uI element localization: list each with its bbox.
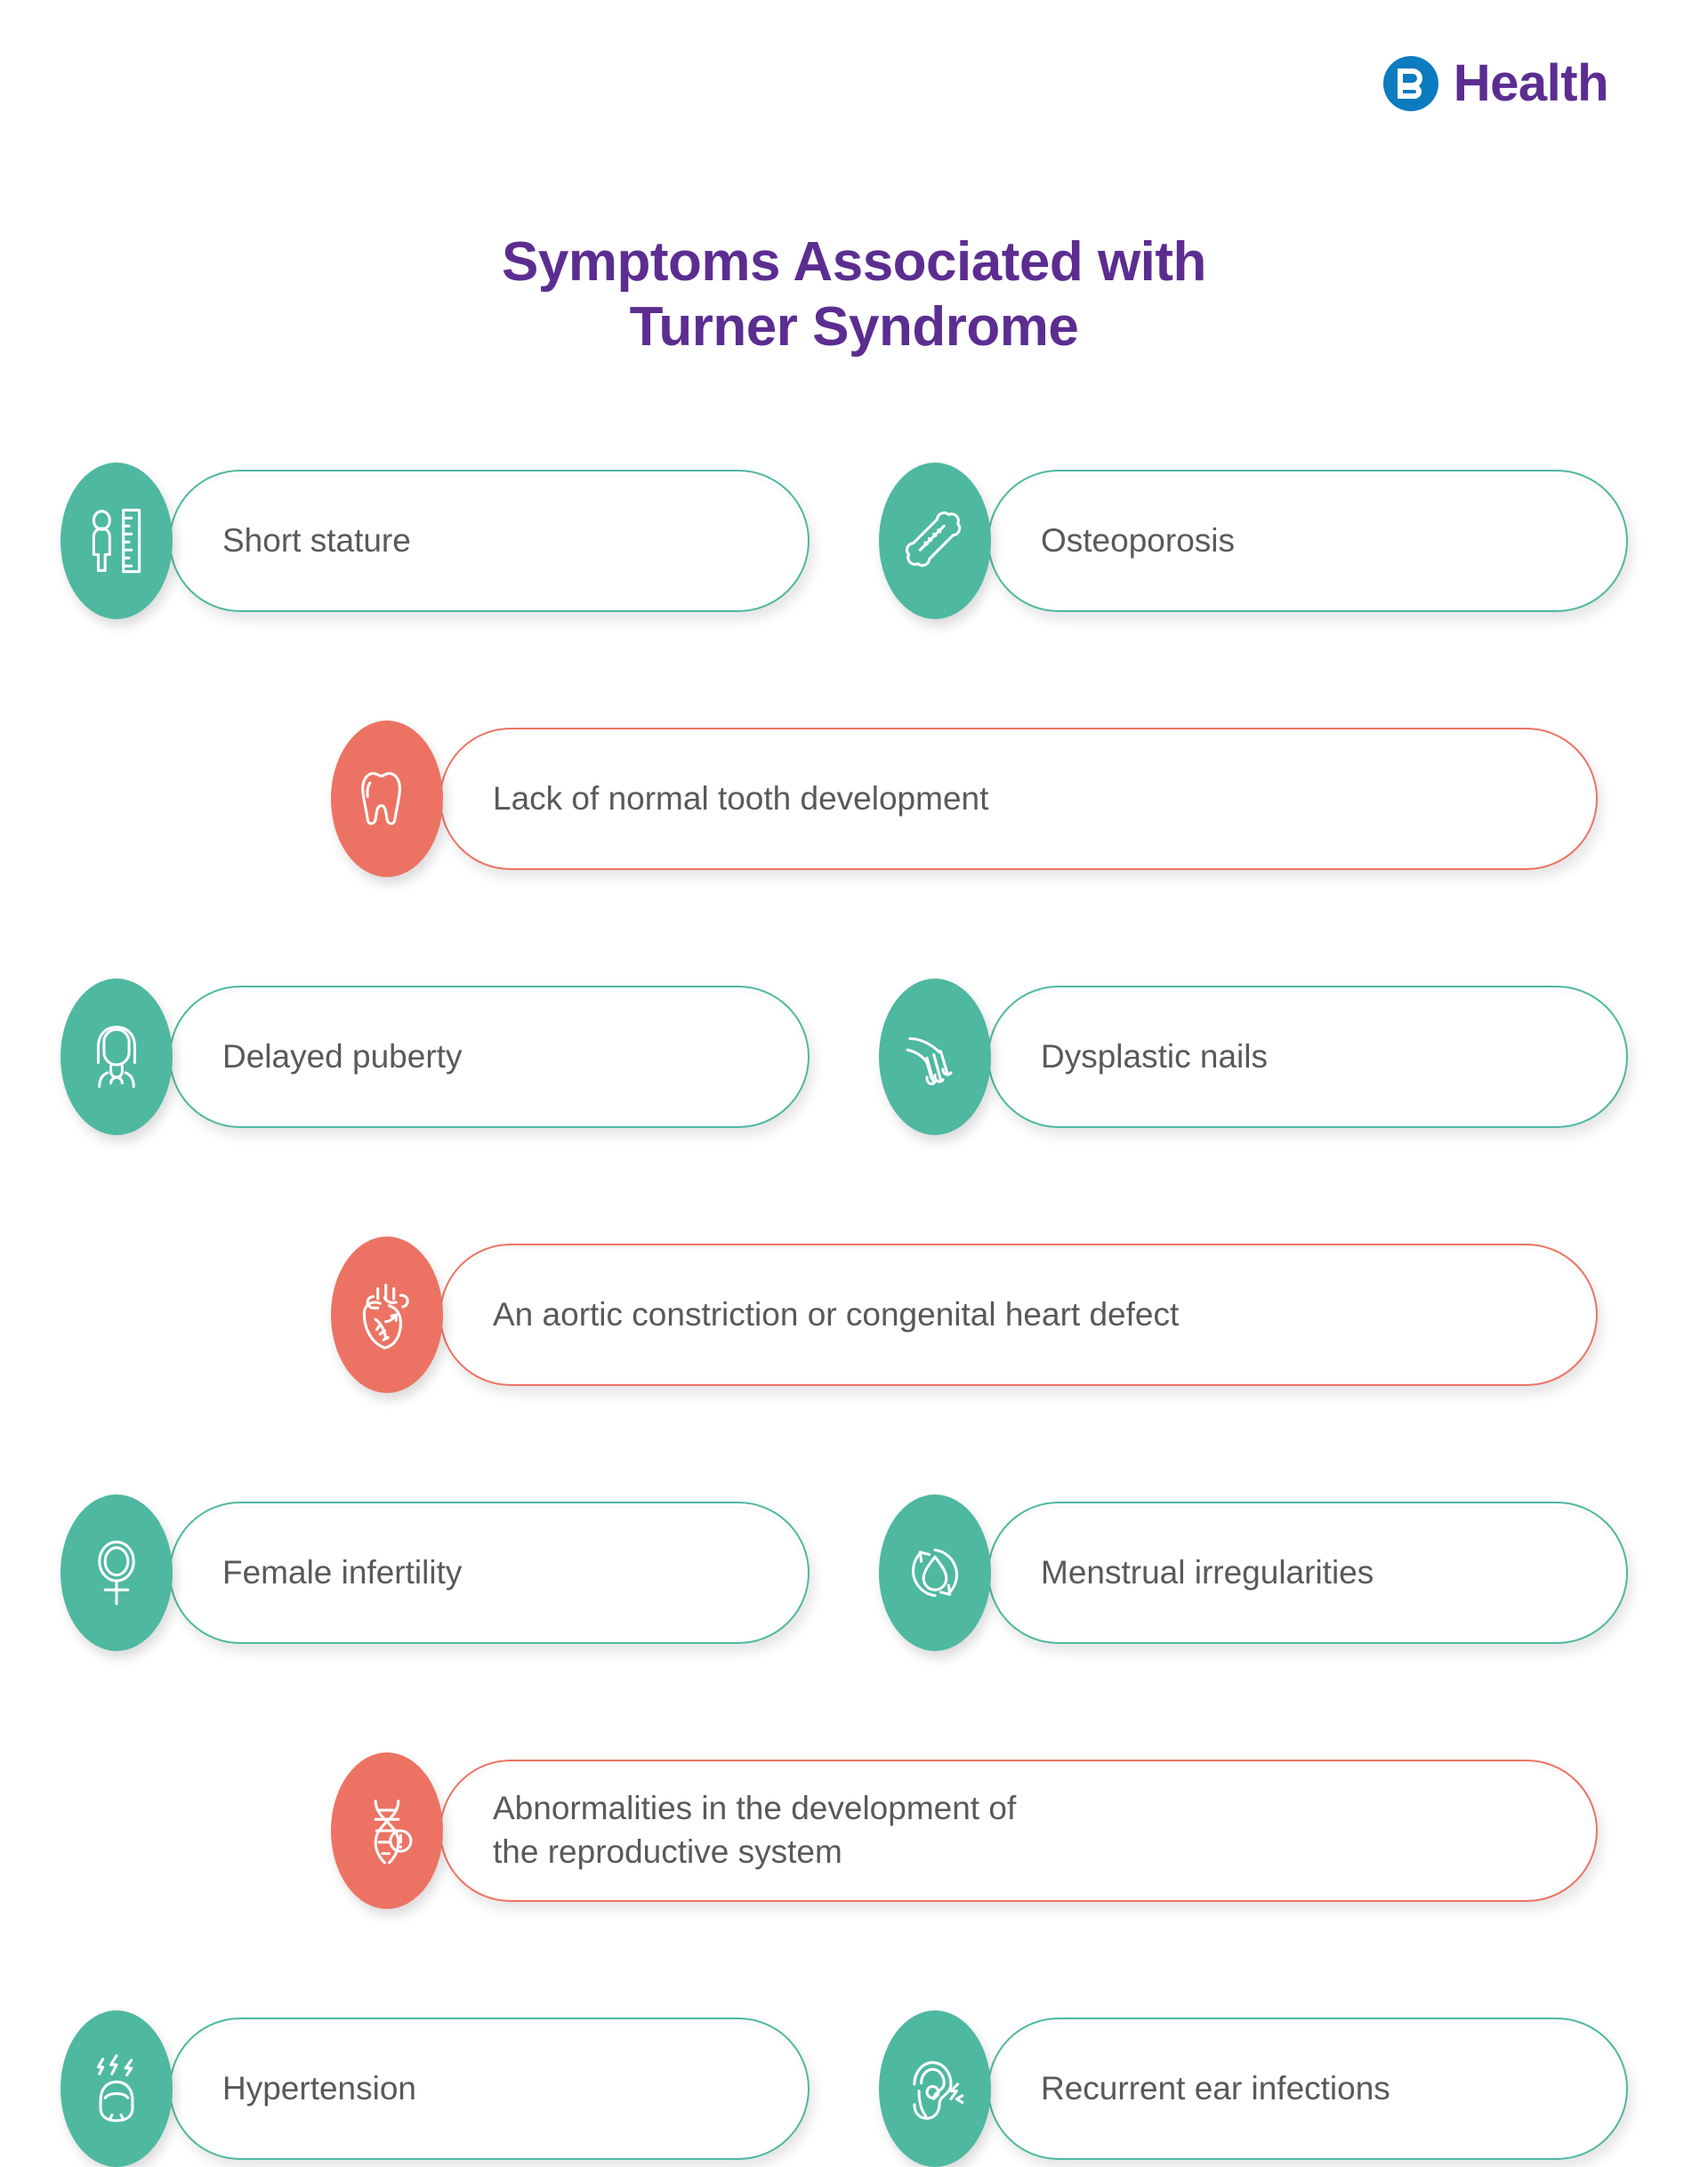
symptom-label: Menstrual irregularities <box>1041 1551 1374 1595</box>
symptom-item[interactable]: An aortic constriction or congenital hea… <box>331 1237 1598 1393</box>
page-title: Symptoms Associated with Turner Syndrome <box>0 230 1708 359</box>
symptom-label: Osteoporosis <box>1041 520 1235 563</box>
symptom-item[interactable]: Hypertension <box>60 2010 810 2167</box>
symptom-item[interactable]: Menstrual irregularities <box>879 1494 1628 1651</box>
bajaj-b-logo-icon <box>1382 55 1439 112</box>
symptom-item[interactable]: Short stature <box>60 463 810 619</box>
hand-nails-icon <box>879 979 991 1135</box>
symptom-row: Female infertility Menstrual irregularit… <box>0 1494 1708 1752</box>
head-lightning-icon <box>60 2010 173 2167</box>
symptom-row: An aortic constriction or congenital hea… <box>0 1237 1708 1494</box>
symptom-row: Short stature Osteoporosis <box>0 463 1708 721</box>
dna-alert-icon <box>331 1752 443 1909</box>
symptom-label: Abnormalities in the development of the … <box>493 1787 1016 1874</box>
symptom-list: Short stature Osteoporosis <box>0 463 1708 2167</box>
symptom-row: Delayed puberty Dysplasti <box>0 979 1708 1237</box>
symptom-label: Short stature <box>222 520 411 563</box>
symptom-item[interactable]: Recurrent ear infections <box>879 2010 1628 2167</box>
symptom-row: Lack of normal tooth development <box>0 721 1708 979</box>
symptom-row: Abnormalities in the development of the … <box>0 1752 1708 2010</box>
title-line-1: Symptoms Associated with <box>0 230 1708 294</box>
bone-icon <box>879 463 991 619</box>
symptom-label: An aortic constriction or congenital hea… <box>493 1293 1179 1337</box>
symptom-label: Female infertility <box>222 1551 462 1595</box>
title-line-2: Turner Syndrome <box>0 294 1708 359</box>
symptom-item[interactable]: Dysplastic nails <box>879 979 1628 1135</box>
symptom-row: Hypertension Recurrent ear infections <box>0 2010 1708 2167</box>
symptom-item[interactable]: Osteoporosis <box>879 463 1628 619</box>
symptom-item[interactable]: Abnormalities in the development of the … <box>331 1752 1598 1909</box>
ear-soundwave-icon <box>879 2010 991 2167</box>
symptom-label: Dysplastic nails <box>1041 1035 1268 1079</box>
symptom-label: Delayed puberty <box>222 1035 462 1079</box>
symptom-item[interactable]: Delayed puberty <box>60 979 810 1135</box>
blood-drop-cycle-icon <box>879 1494 991 1651</box>
girl-face-icon <box>60 979 173 1135</box>
symptom-label: Hypertension <box>222 2067 416 2111</box>
person-height-ruler-icon <box>60 463 173 619</box>
symptom-label: Lack of normal tooth development <box>493 777 988 821</box>
infographic-page: Health Symptoms Associated with Turner S… <box>0 0 1708 2167</box>
anatomical-heart-icon <box>331 1237 443 1393</box>
brand-logo: Health <box>1382 55 1608 112</box>
venus-female-symbol-icon <box>60 1494 173 1651</box>
brand-name: Health <box>1454 58 1608 109</box>
tooth-icon <box>331 721 443 877</box>
symptom-item[interactable]: Lack of normal tooth development <box>331 721 1598 877</box>
symptom-label: Recurrent ear infections <box>1041 2067 1390 2111</box>
symptom-item[interactable]: Female infertility <box>60 1494 810 1651</box>
